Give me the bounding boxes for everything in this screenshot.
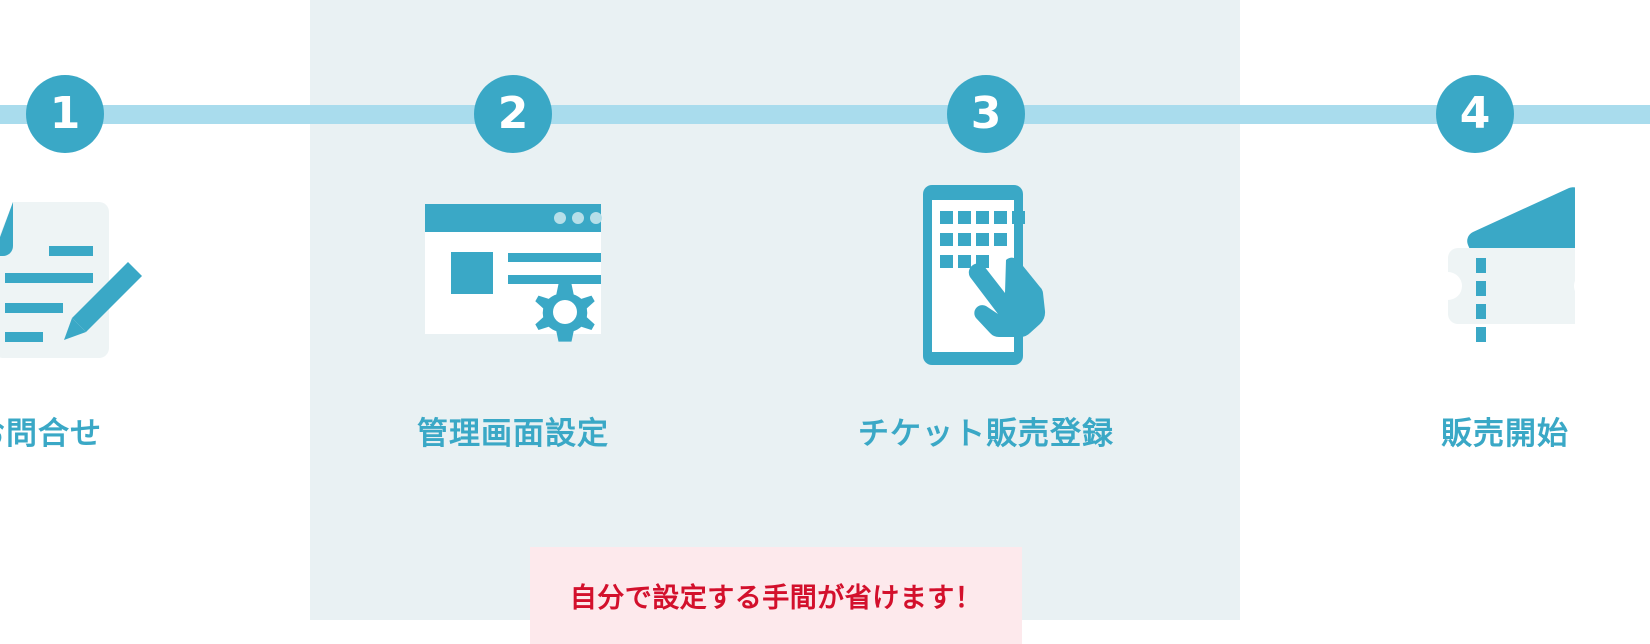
tickets-icon xyxy=(1375,180,1575,370)
step-item-4: 4 販売開始 xyxy=(1310,0,1640,500)
step-label-4: 販売開始 xyxy=(1295,408,1650,453)
step-label-1: お問合せ xyxy=(0,408,248,453)
step-item-1: 1 お問合せ xyxy=(0,0,230,500)
browser-gear-icon xyxy=(413,180,613,370)
process-flow-diagram: 1 お問合せ 2 xyxy=(0,0,1650,644)
step-number-badge-2: 2 xyxy=(474,75,552,153)
step-item-2: 2 管理画面設定 xyxy=(348,0,678,500)
steps-row: 1 お問合せ 2 xyxy=(0,0,1650,500)
note-banner-text: 自分で設定する手間が省けます！ xyxy=(570,576,983,615)
tablet-tap-icon xyxy=(886,180,1086,370)
step-number-badge-4: 4 xyxy=(1436,75,1514,153)
step-number-badge-3: 3 xyxy=(947,75,1025,153)
step-item-3: 3 xyxy=(821,0,1151,500)
step-label-2: 管理画面設定 xyxy=(303,408,723,453)
note-banner: 自分で設定する手間が省けます！ xyxy=(530,547,1022,644)
step-label-3: チケット販売登録 xyxy=(776,408,1196,453)
document-pencil-icon xyxy=(0,180,165,370)
step-number-badge-1: 1 xyxy=(26,75,104,153)
